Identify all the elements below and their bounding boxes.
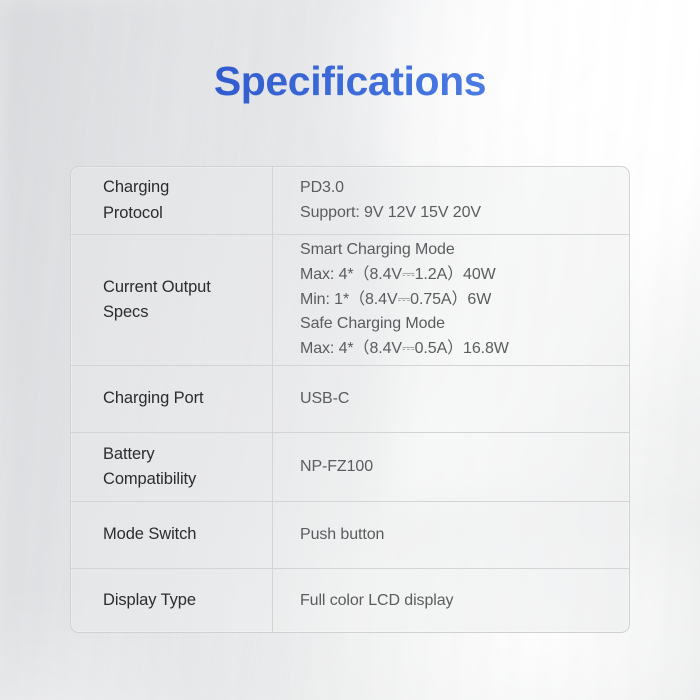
spec-value-mode-switch: Push button — [273, 502, 629, 568]
spec-value-charging-protocol: PD3.0 Support: 9V 12V 15V 20V — [273, 167, 629, 234]
spec-label-battery-compatibility: Battery Compatibility — [71, 433, 273, 501]
table-row: Charging Port USB-C — [71, 366, 629, 433]
specifications-table: Charging Protocol PD3.0 Support: 9V 12V … — [70, 166, 630, 633]
spec-value-charging-port: USB-C — [273, 366, 629, 432]
spec-label-mode-switch: Mode Switch — [71, 502, 273, 568]
spec-label-charging-protocol: Charging Protocol — [71, 167, 273, 234]
table-row: Battery Compatibility NP-FZ100 — [71, 433, 629, 502]
table-row: Display Type Full color LCD display — [71, 569, 629, 633]
table-row: Charging Protocol PD3.0 Support: 9V 12V … — [71, 167, 629, 235]
spec-value-battery-compatibility: NP-FZ100 — [273, 433, 629, 501]
page-title: Specifications — [0, 58, 700, 105]
table-row: Current Output Specs Smart Charging Mode… — [71, 235, 629, 366]
spec-value-display-type: Full color LCD display — [273, 569, 629, 633]
spec-label-charging-port: Charging Port — [71, 366, 273, 432]
spec-label-current-output-specs: Current Output Specs — [71, 235, 273, 365]
spec-value-current-output-specs: Smart Charging Mode Max: 4*（8.4V⎓1.2A）40… — [273, 235, 629, 365]
table-row: Mode Switch Push button — [71, 502, 629, 569]
spec-label-display-type: Display Type — [71, 569, 273, 633]
